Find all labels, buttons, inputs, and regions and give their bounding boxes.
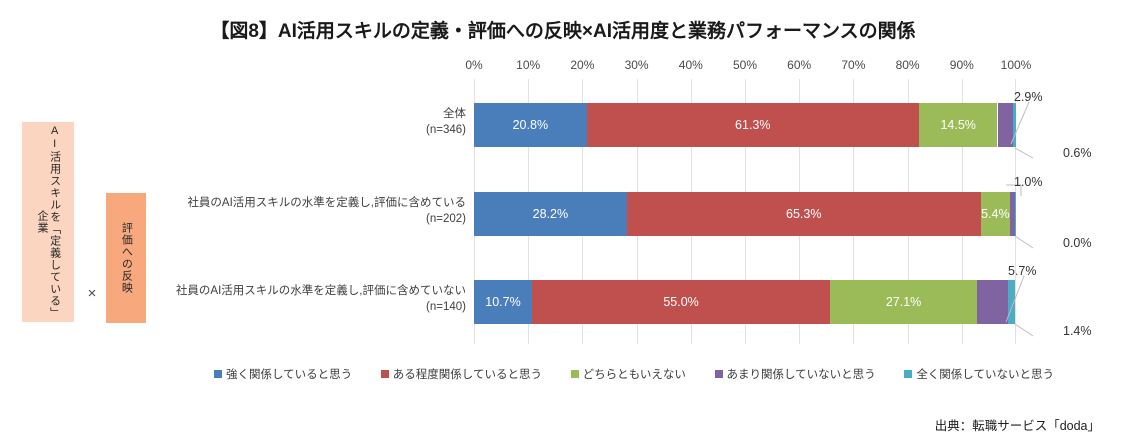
callout-r1-s3: 1.0% — [1014, 175, 1043, 189]
x-tick-100: 100% — [1001, 58, 1032, 72]
x-tick-10: 10% — [516, 58, 540, 72]
legend-item-2[interactable]: どちらともいえない — [571, 366, 686, 382]
callout-r1-s4: 0.0% — [1063, 236, 1092, 250]
x-tick-50: 50% — [733, 58, 757, 72]
bar-segment-r0-s1[interactable]: 61.3% — [587, 103, 919, 147]
legend-label-4: 全く関係していないと思う — [916, 366, 1054, 382]
legend-label-3: あまり関係していないと思う — [727, 366, 876, 382]
x-tick-90: 90% — [950, 58, 974, 72]
x-tick-70: 70% — [841, 58, 865, 72]
bar-segment-r2-s0[interactable]: 10.7% — [474, 280, 532, 324]
x-tick-60: 60% — [787, 58, 811, 72]
x-tick-0: 0% — [465, 58, 482, 72]
leader-line-r1-s4 — [1013, 230, 1041, 250]
x-tick-80: 80% — [896, 58, 920, 72]
bar-segment-r1-s1[interactable]: 65.3% — [627, 192, 981, 236]
leader-line-r2-s4 — [1013, 318, 1041, 338]
bar-segment-r0-s2[interactable]: 14.5% — [919, 103, 998, 147]
legend-swatch-icon-2 — [571, 370, 579, 378]
legend-item-0[interactable]: 強く関係していると思う — [214, 366, 352, 382]
legend-label-0: 強く関係していると思う — [226, 366, 352, 382]
category-count-row-1: (n=202) — [187, 212, 466, 228]
legend-item-1[interactable]: ある程度関係していると思う — [381, 366, 542, 382]
category-label-row-2: 社員のAI活用スキルの水準を定義し,評価に含めていない (n=140) — [176, 284, 466, 315]
callout-r2-s4: 1.4% — [1063, 324, 1092, 338]
category-name-row-0: 全体 — [443, 108, 466, 120]
bar-segment-r2-s2[interactable]: 27.1% — [830, 280, 977, 324]
legend-label-1: ある程度関係していると思う — [393, 366, 542, 382]
category-name-row-1: 社員のAI活用スキルの水準を定義し,評価に含めている — [187, 197, 466, 209]
chart-legend: 強く関係していると思う ある程度関係していると思う どちらともいえない あまり関… — [214, 366, 1054, 382]
legend-item-4[interactable]: 全く関係していないと思う — [904, 366, 1054, 382]
bar-segment-r2-s1[interactable]: 55.0% — [532, 280, 830, 324]
category-label-row-0: 全体 (n=346) — [426, 107, 466, 138]
category-count-row-2: (n=140) — [176, 300, 466, 316]
callout-r0-s3: 2.9% — [1014, 90, 1043, 104]
legend-label-2: どちらともいえない — [583, 366, 686, 382]
category-name-row-2: 社員のAI活用スキルの水準を定義し,評価に含めていない — [176, 285, 466, 297]
leader-line-r2-s3 — [1000, 274, 1032, 324]
leader-line-r0-s4 — [1013, 140, 1041, 160]
callout-r0-s4: 0.6% — [1063, 146, 1092, 160]
x-tick-20: 20% — [570, 58, 594, 72]
x-tick-30: 30% — [625, 58, 649, 72]
legend-item-3[interactable]: あまり関係していないと思う — [715, 366, 876, 382]
bar-segment-r1-s0[interactable]: 28.2% — [474, 192, 627, 236]
x-axis-tick-labels: 0% 10% 20% 30% 40% 50% 60% 70% 80% 90% 1… — [474, 58, 1016, 74]
source-note: 出典：転職サービス「doda」 — [935, 415, 1100, 434]
category-count-row-0: (n=346) — [426, 123, 466, 139]
category-label-row-1: 社員のAI活用スキルの水準を定義し,評価に含めている (n=202) — [187, 196, 466, 227]
legend-swatch-icon-0 — [214, 370, 222, 378]
x-tick-40: 40% — [679, 58, 703, 72]
legend-swatch-icon-3 — [715, 370, 723, 378]
bar-segment-r0-s0[interactable]: 20.8% — [474, 103, 587, 147]
legend-swatch-icon-1 — [381, 370, 389, 378]
callout-r2-s3: 5.7% — [1008, 264, 1037, 278]
legend-swatch-icon-4 — [904, 370, 912, 378]
